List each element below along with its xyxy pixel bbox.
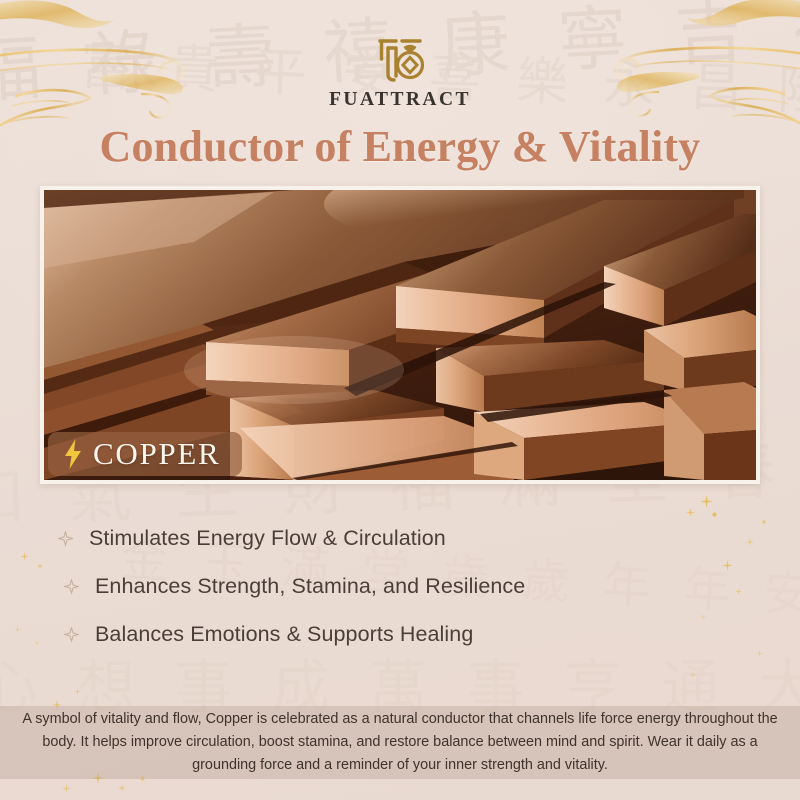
gold-sparkle-particle <box>62 784 71 793</box>
page-title: Conductor of Energy & Vitality <box>0 124 800 170</box>
list-item-label: Enhances Strength, Stamina, and Resilien… <box>95 576 525 598</box>
list-item: Stimulates Energy Flow & Circulation <box>58 515 760 562</box>
benefits-list: Stimulates Energy Flow & Circulation Enh… <box>58 515 760 658</box>
list-item: Balances Emotions & Supports Healing <box>58 611 760 658</box>
diamond-sparkle-icon <box>58 531 73 546</box>
list-item-label: Stimulates Energy Flow & Circulation <box>89 528 446 550</box>
material-badge-label: COPPER <box>93 438 220 469</box>
description-text: A symbol of vitality and flow, Copper is… <box>6 708 794 776</box>
poster-canvas: 福 祿 壽 禧 康 寧 吉 祥 如 意 富 貴 平 安 喜 樂 永 昌 隆 盛 … <box>0 0 800 800</box>
list-item: Enhances Strength, Stamina, and Resilien… <box>58 563 760 610</box>
gold-sparkle-particle <box>34 640 40 646</box>
brand-name: FUATTRACT <box>329 90 471 110</box>
description-band: A symbol of vitality and flow, Copper is… <box>0 706 800 779</box>
list-item-label: Balances Emotions & Supports Healing <box>95 624 473 646</box>
gold-sparkle-particle <box>38 564 42 568</box>
material-badge: COPPER <box>48 432 242 476</box>
gold-sparkle-particle <box>700 495 713 508</box>
gold-sparkle-particle <box>14 626 21 633</box>
diamond-sparkle-icon <box>64 579 79 594</box>
fuattract-logo-mark-icon <box>374 34 426 84</box>
gold-sparkle-particle <box>690 672 696 678</box>
gold-sparkle-particle <box>762 520 766 524</box>
brand-header: FUATTRACT <box>0 34 800 110</box>
hero-image-frame: COPPER <box>40 186 760 484</box>
gold-sparkle-particle <box>20 552 29 561</box>
gold-sparkle-particle <box>74 688 81 695</box>
lightning-bolt-icon <box>62 439 84 469</box>
gold-sparkle-particle <box>118 784 126 792</box>
diamond-sparkle-icon <box>64 627 79 642</box>
